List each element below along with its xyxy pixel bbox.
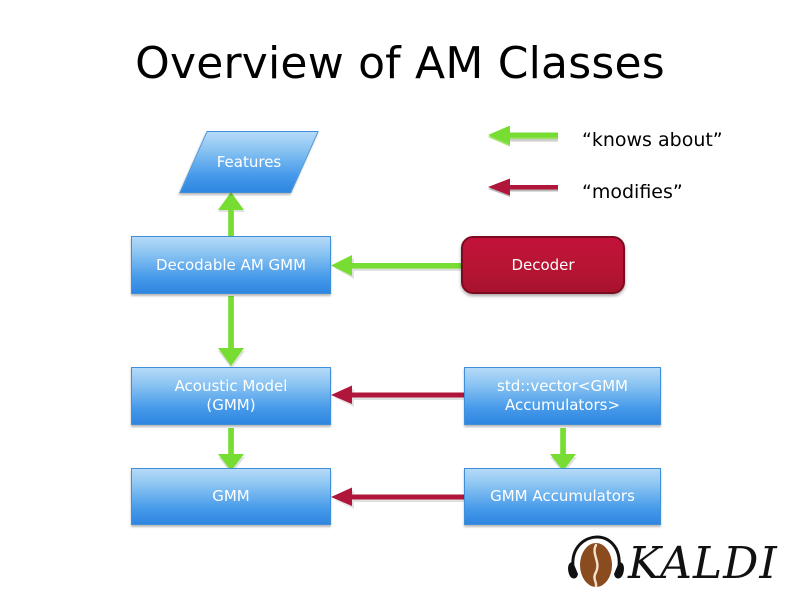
node-decodable-am-gmm-label: Decodable AM GMM bbox=[156, 256, 306, 275]
edge-gmm-accumulators-to-gmm bbox=[326, 485, 466, 511]
node-vector-gmm-accumulators-label-line2: Accumulators> bbox=[505, 396, 620, 415]
node-gmm-label: GMM bbox=[212, 487, 250, 506]
kaldi-wordmark: KALDI bbox=[628, 542, 778, 586]
coffee-bean-headphones-icon bbox=[566, 534, 626, 595]
edge-decoder-to-decodable bbox=[326, 252, 466, 280]
node-gmm-accumulators[interactable]: GMM Accumulators bbox=[464, 468, 661, 525]
node-gmm[interactable]: GMM bbox=[131, 468, 331, 525]
node-features[interactable]: Features bbox=[193, 131, 305, 193]
node-gmm-accumulators-label: GMM Accumulators bbox=[490, 487, 635, 506]
node-acoustic-model[interactable]: Acoustic Model (GMM) bbox=[131, 367, 331, 425]
node-vector-gmm-accumulators-label-line1: std::vector<GMM bbox=[497, 377, 628, 396]
legend-item-knows-about: “knows about” bbox=[488, 126, 723, 153]
slide-canvas: Overview of AM Classes “knows about” bbox=[0, 0, 800, 599]
node-decoder[interactable]: Decoder bbox=[461, 236, 625, 294]
node-acoustic-model-label-line2: (GMM) bbox=[206, 396, 255, 415]
legend-arrow-red-icon bbox=[488, 178, 560, 205]
node-decoder-label: Decoder bbox=[511, 256, 574, 275]
edge-decodable-to-acoustic-model bbox=[214, 296, 250, 372]
node-vector-gmm-accumulators[interactable]: std::vector<GMM Accumulators> bbox=[464, 367, 661, 425]
legend-label-modifies: “modifies” bbox=[582, 181, 683, 203]
edge-vector-to-acoustic-model bbox=[326, 383, 466, 409]
kaldi-logo: KALDI bbox=[566, 535, 781, 593]
node-decodable-am-gmm[interactable]: Decodable AM GMM bbox=[131, 236, 331, 294]
node-features-label: Features bbox=[217, 153, 282, 172]
edge-decodable-to-features bbox=[214, 192, 250, 242]
legend-label-knows-about: “knows about” bbox=[582, 129, 723, 151]
node-acoustic-model-label-line1: Acoustic Model bbox=[175, 377, 288, 396]
page-title: Overview of AM Classes bbox=[0, 38, 800, 89]
legend-arrow-green-icon bbox=[488, 126, 560, 153]
legend-item-modifies: “modifies” bbox=[488, 178, 683, 205]
